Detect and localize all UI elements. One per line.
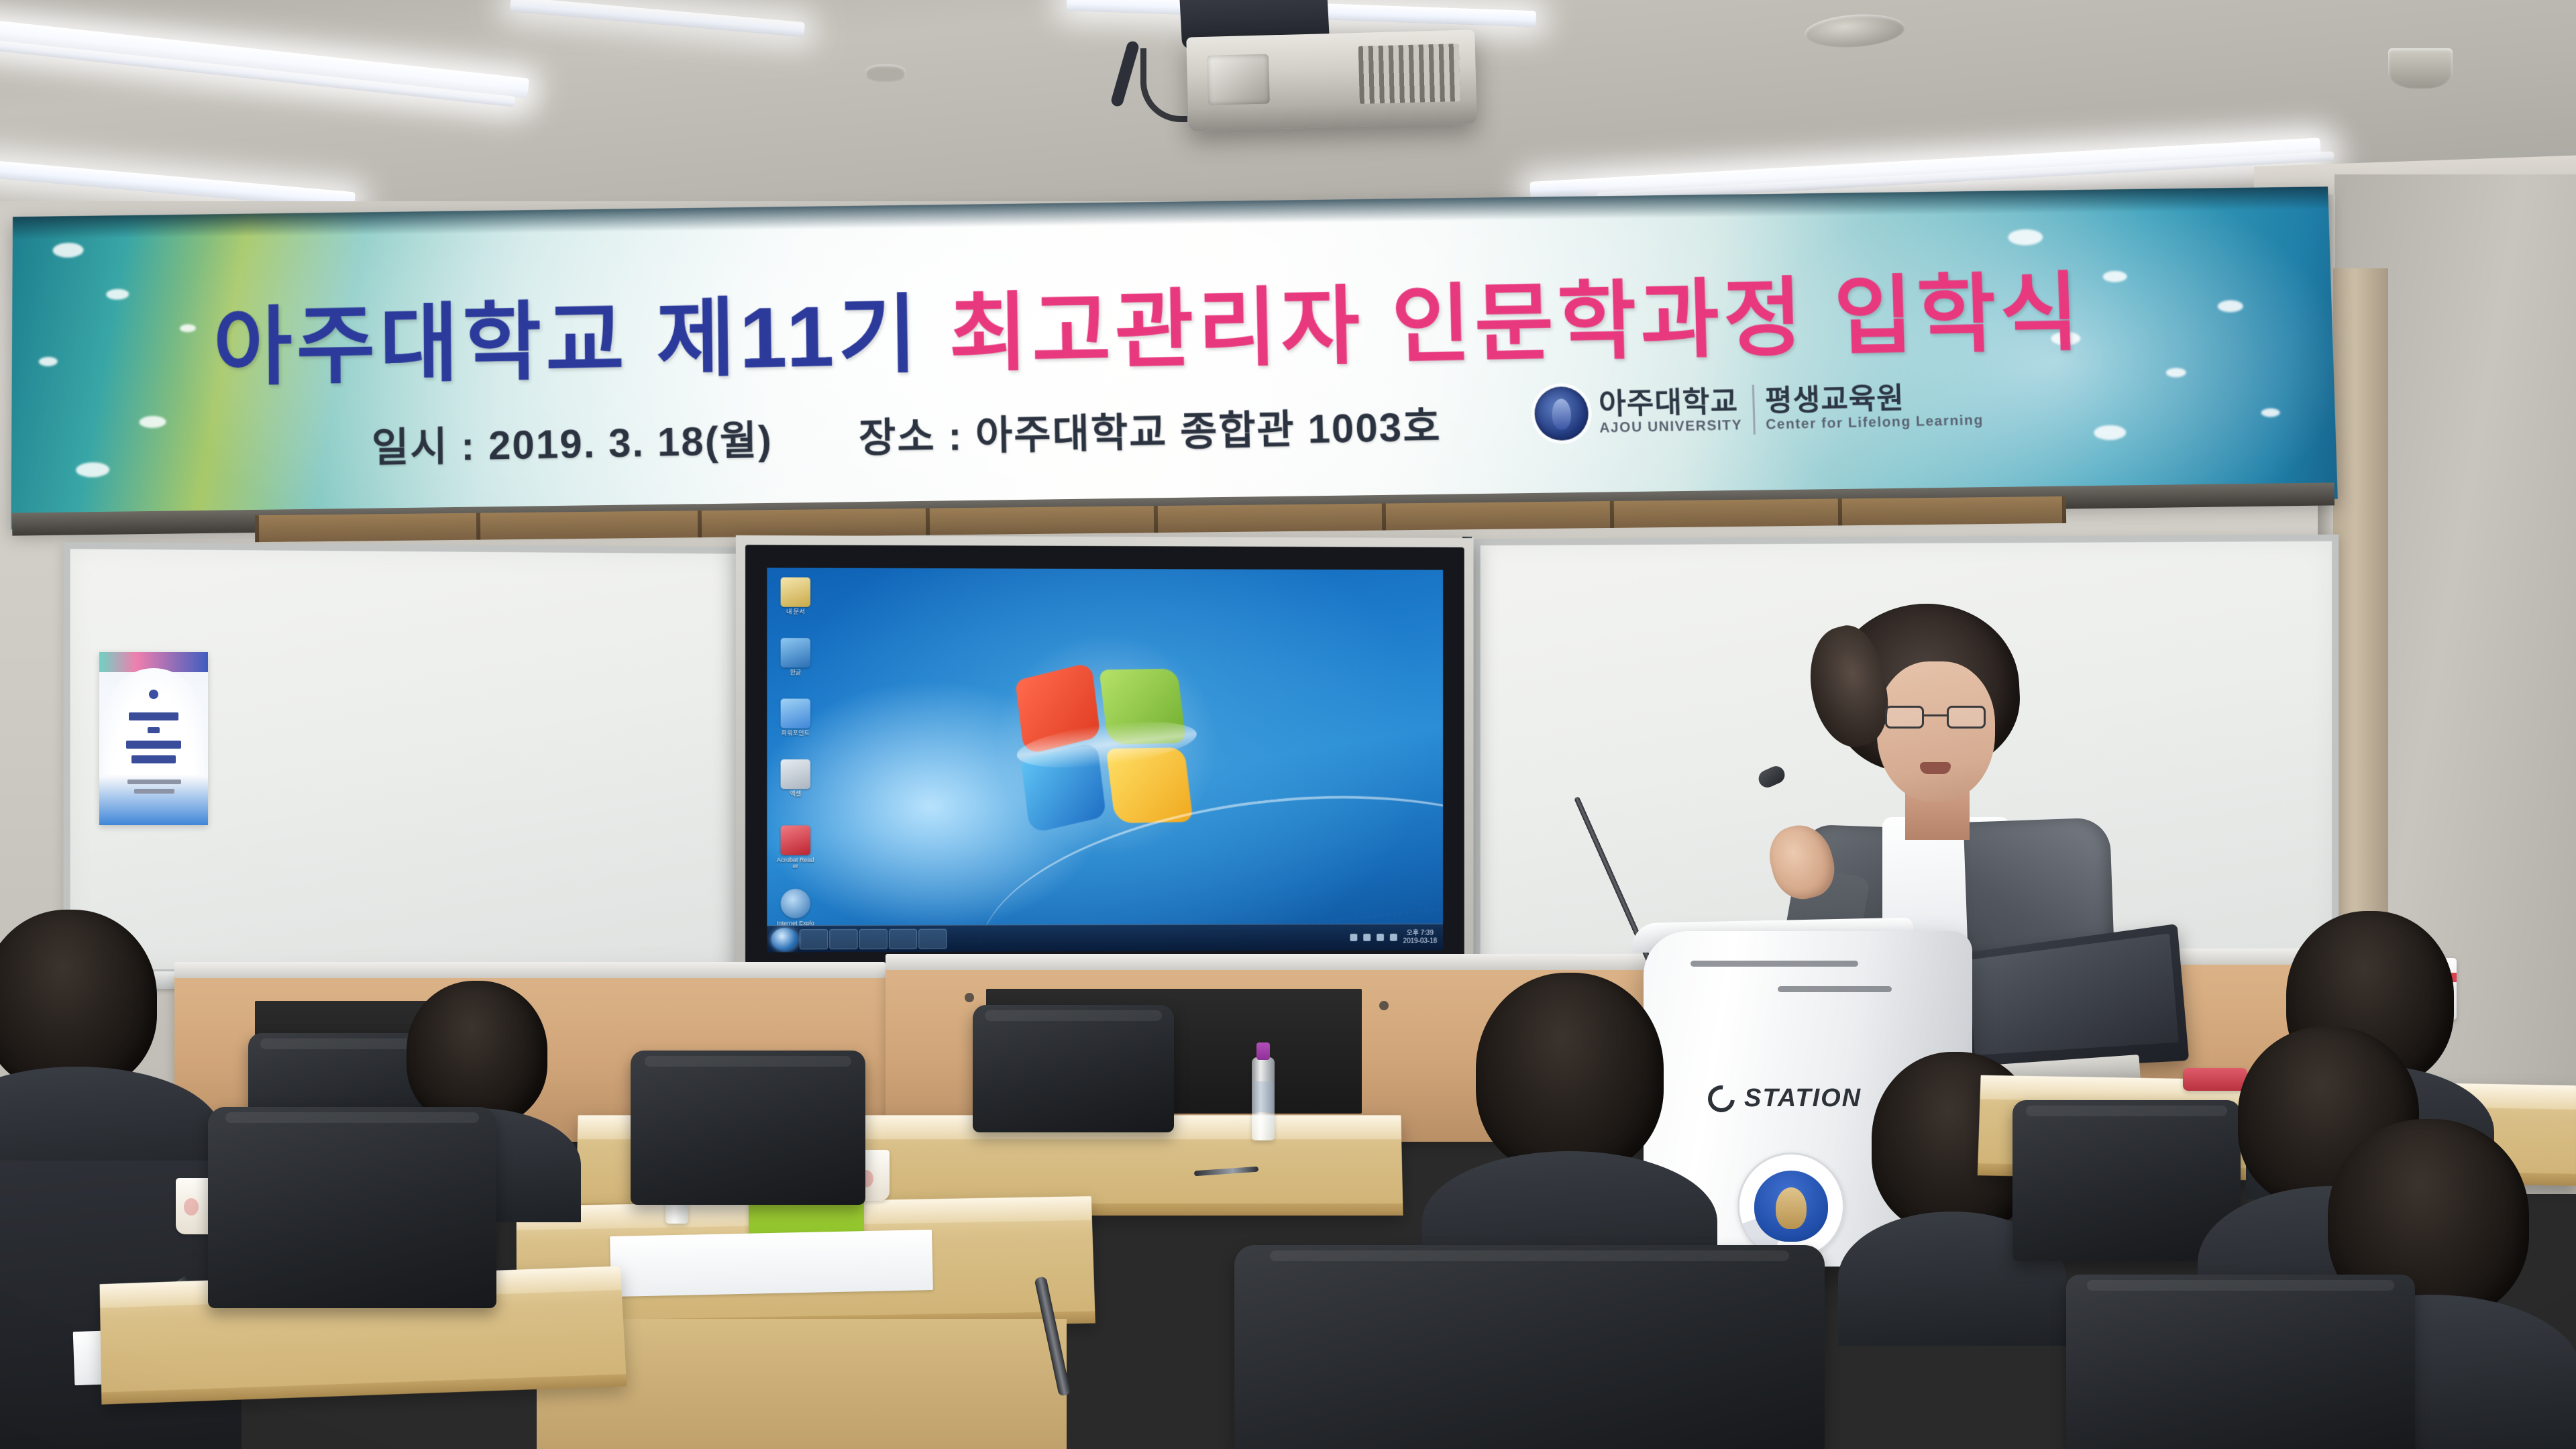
speaker-mouth (1920, 762, 1951, 774)
logo-unit-en: Center for Lifelong Learning (1766, 413, 1984, 433)
projector-lens-icon (1207, 54, 1270, 105)
tray-ime-icon[interactable] (1350, 934, 1357, 941)
event-banner: 아주대학교 제11기 최고관리자 인문학과정 입학식 일시 : 2019. 3.… (11, 186, 2337, 529)
taskbar-button[interactable] (829, 928, 857, 949)
recessed-light-icon (1804, 11, 1907, 50)
handout-papers[interactable] (610, 1230, 933, 1297)
taskbar-button[interactable] (859, 928, 888, 949)
logo-unit-block: 평생교육원 Center for Lifelong Learning (1764, 382, 1984, 433)
internet-explorer-icon (781, 889, 810, 918)
audience-chair[interactable] (208, 1107, 496, 1308)
banner-title-part2: 최고관리자 인문학과정 입학식 (948, 265, 2084, 382)
water-bottle[interactable] (1252, 1057, 1275, 1140)
banner-title-part1: 아주대학교 제11기 (213, 286, 950, 396)
taskbar-button[interactable] (800, 929, 828, 949)
podium-slot (1690, 961, 1858, 967)
smoke-detector-icon (865, 64, 906, 82)
system-tray[interactable]: 오후 7:39 2019-03-18 (1350, 930, 1439, 945)
tray-volume-icon[interactable] (1363, 934, 1371, 941)
cabinet-top-edge (885, 954, 1664, 970)
powerpoint-app-icon (781, 698, 810, 728)
logo-org-en: AJOU UNIVERSITY (1599, 417, 1743, 436)
audience-chair[interactable] (973, 1005, 1174, 1132)
folder-icon (781, 578, 810, 607)
banner-date: 일시 : 2019. 3. 18(월) (372, 417, 773, 470)
logo-org-ko: 아주대학교 (1599, 386, 1742, 421)
desktop-icon-2[interactable]: 파워포인트 (777, 698, 815, 737)
ajou-seal-icon (1534, 386, 1589, 441)
taskbar-button[interactable] (918, 928, 947, 949)
notice-poster (99, 652, 208, 825)
tray-network-icon[interactable] (1377, 934, 1384, 941)
taskbar-clock[interactable]: 오후 7:39 2019-03-18 (1403, 930, 1438, 945)
desktop-icon-0[interactable]: 내 문서 (777, 578, 815, 616)
clock-date: 2019-03-18 (1403, 937, 1438, 945)
glasses-icon (1885, 706, 1986, 729)
desktop-icon-label: 엑셀 (777, 791, 815, 798)
audience-chair[interactable] (2066, 1275, 2415, 1449)
audience-chair[interactable] (1234, 1245, 1825, 1449)
excel-app-icon (781, 759, 810, 789)
desktop-icon-label: 한글 (777, 669, 815, 676)
windows-desktop[interactable]: 내 문서 한글 파워포인트 엑셀 Acrobat Reader (767, 568, 1443, 952)
ajou-emblem-icon (1737, 1152, 1845, 1260)
ceiling-projector (1186, 30, 1477, 131)
poster-dot (149, 690, 158, 699)
ceiling-fluorescent-light (510, 0, 805, 37)
desktop-icon-label: 내 문서 (777, 609, 815, 616)
desktop-icon-1[interactable]: 한글 (777, 638, 815, 676)
start-button-icon[interactable] (771, 928, 798, 951)
projector-vent (1358, 44, 1460, 104)
banner-title: 아주대학교 제11기 최고관리자 인문학과정 입학식 (213, 244, 2025, 402)
clock-time: 오후 7:39 (1403, 930, 1438, 937)
taskbar-button[interactable] (889, 928, 917, 949)
desktop-icon-3[interactable]: 엑셀 (777, 759, 815, 798)
logo-unit-ko: 평생교육원 (1764, 382, 1983, 417)
windows-taskbar[interactable]: 오후 7:39 2019-03-18 (767, 924, 1443, 953)
logo-divider (1752, 385, 1755, 435)
banner-logo: 아주대학교 AJOU UNIVERSITY 평생교육원 Center for L… (1534, 378, 1984, 441)
speaker-face (1877, 661, 1995, 802)
podium-slot (1778, 986, 1892, 992)
acrobat-reader-icon (781, 825, 810, 855)
desktop-icon-label: 파워포인트 (777, 731, 815, 737)
logo-university-block: 아주대학교 AJOU UNIVERSITY (1599, 386, 1743, 437)
hangul-app-icon (781, 638, 810, 667)
lecture-hall-scene: 아주대학교 제11기 최고관리자 인문학과정 입학식 일시 : 2019. 3.… (0, 0, 2576, 1449)
desktop-icon-label: Acrobat Reader (777, 857, 815, 870)
ceiling-speaker-icon (2388, 48, 2453, 89)
cabinet-knob (1379, 1001, 1389, 1010)
podium-monitor-screen (1968, 933, 2179, 1055)
cabinet-knob (965, 993, 974, 1002)
tray-action-center-icon[interactable] (1390, 934, 1397, 941)
audience-chair[interactable] (631, 1051, 865, 1205)
banner-subtitle: 일시 : 2019. 3. 18(월)장소 : 아주대학교 종합관 1003호 (372, 394, 1442, 474)
projection-screen-frame: 내 문서 한글 파워포인트 엑셀 Acrobat Reader (736, 535, 1474, 994)
screen-bezel: 내 문서 한글 파워포인트 엑셀 Acrobat Reader (745, 545, 1464, 985)
desktop-icon-4[interactable]: Acrobat Reader (777, 825, 815, 869)
banner-place: 장소 : 아주대학교 종합관 1003호 (859, 404, 1442, 461)
